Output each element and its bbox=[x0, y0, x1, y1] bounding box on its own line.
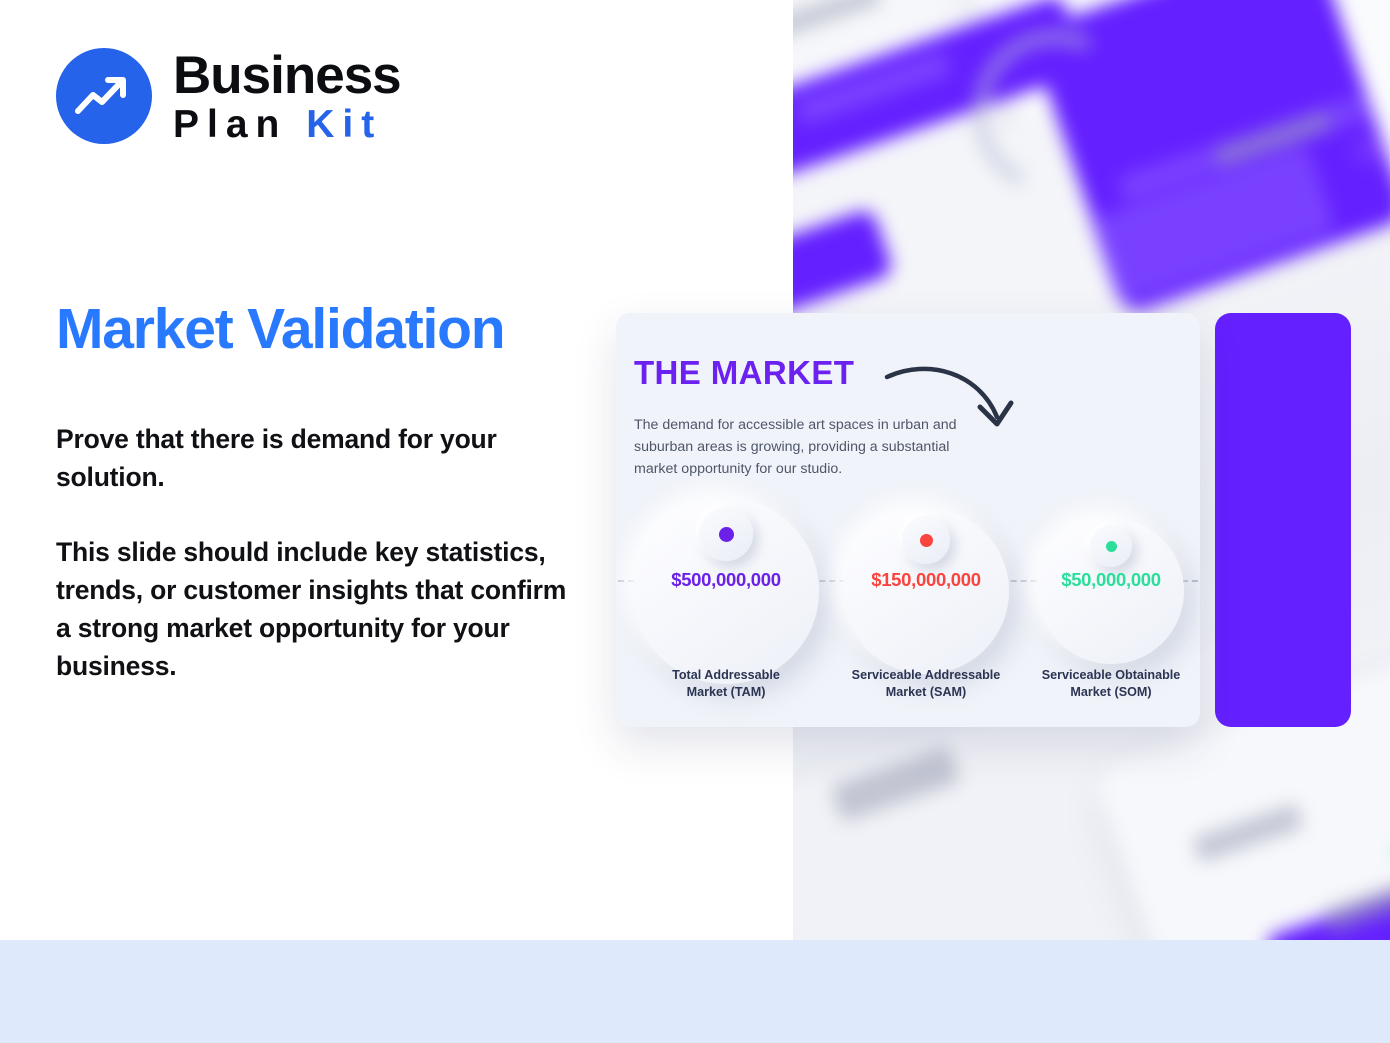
status-dot-icon bbox=[1106, 541, 1117, 552]
brand-kit-text: Kit bbox=[306, 103, 382, 146]
intro-paragraph-1: Prove that there is demand for your solu… bbox=[56, 420, 581, 496]
metric-label-som-line1: Serviceable Obtainable bbox=[1042, 668, 1181, 682]
metric-value-som: $50,000,000 bbox=[1018, 569, 1200, 591]
metric-value-sam: $150,000,000 bbox=[833, 569, 1019, 591]
brand-name-line1: Business bbox=[173, 49, 401, 102]
brand-plan-text: Plan bbox=[173, 103, 287, 146]
brand-wordmark: Business Plan Kit bbox=[173, 49, 401, 144]
intro-paragraph-2: This slide should include key statistics… bbox=[56, 533, 581, 686]
page-title: Market Validation bbox=[56, 300, 504, 360]
metric-label-tam-line1: Total Addressable bbox=[672, 668, 780, 682]
metric-knob-tam bbox=[699, 507, 753, 561]
purple-accent-panel bbox=[1215, 313, 1351, 727]
metric-label-som: Serviceable Obtainable Market (SOM) bbox=[1008, 667, 1200, 700]
market-preview-card: THE MARKET The demand for accessible art… bbox=[616, 313, 1200, 727]
status-dot-icon bbox=[920, 534, 933, 547]
metric-label-som-line2: Market (SOM) bbox=[1070, 685, 1151, 699]
metric-knob-sam bbox=[902, 516, 950, 564]
bottom-accent-band bbox=[0, 940, 1390, 1043]
status-dot-icon bbox=[719, 527, 734, 542]
metric-label-tam-line2: Market (TAM) bbox=[687, 685, 766, 699]
metric-label-sam-line1: Serviceable Addressable bbox=[852, 668, 1001, 682]
slide-canvas: Business Plan Kit Market Validation Prov… bbox=[0, 0, 1390, 1043]
market-metrics-group: $500,000,000 Total Addressable Market (T… bbox=[616, 313, 1200, 727]
growth-chart-arrow-icon bbox=[56, 48, 152, 144]
metric-label-tam: Total Addressable Market (TAM) bbox=[633, 667, 819, 700]
bg-dot bbox=[1353, 135, 1383, 165]
metric-label-sam: Serviceable Addressable Market (SAM) bbox=[823, 667, 1029, 700]
metric-knob-som bbox=[1090, 525, 1132, 567]
metric-value-tam: $500,000,000 bbox=[633, 569, 819, 591]
metric-label-sam-line2: Market (SAM) bbox=[886, 685, 966, 699]
brand-logo: Business Plan Kit bbox=[56, 48, 401, 144]
brand-name-line2: Plan Kit bbox=[173, 105, 401, 144]
